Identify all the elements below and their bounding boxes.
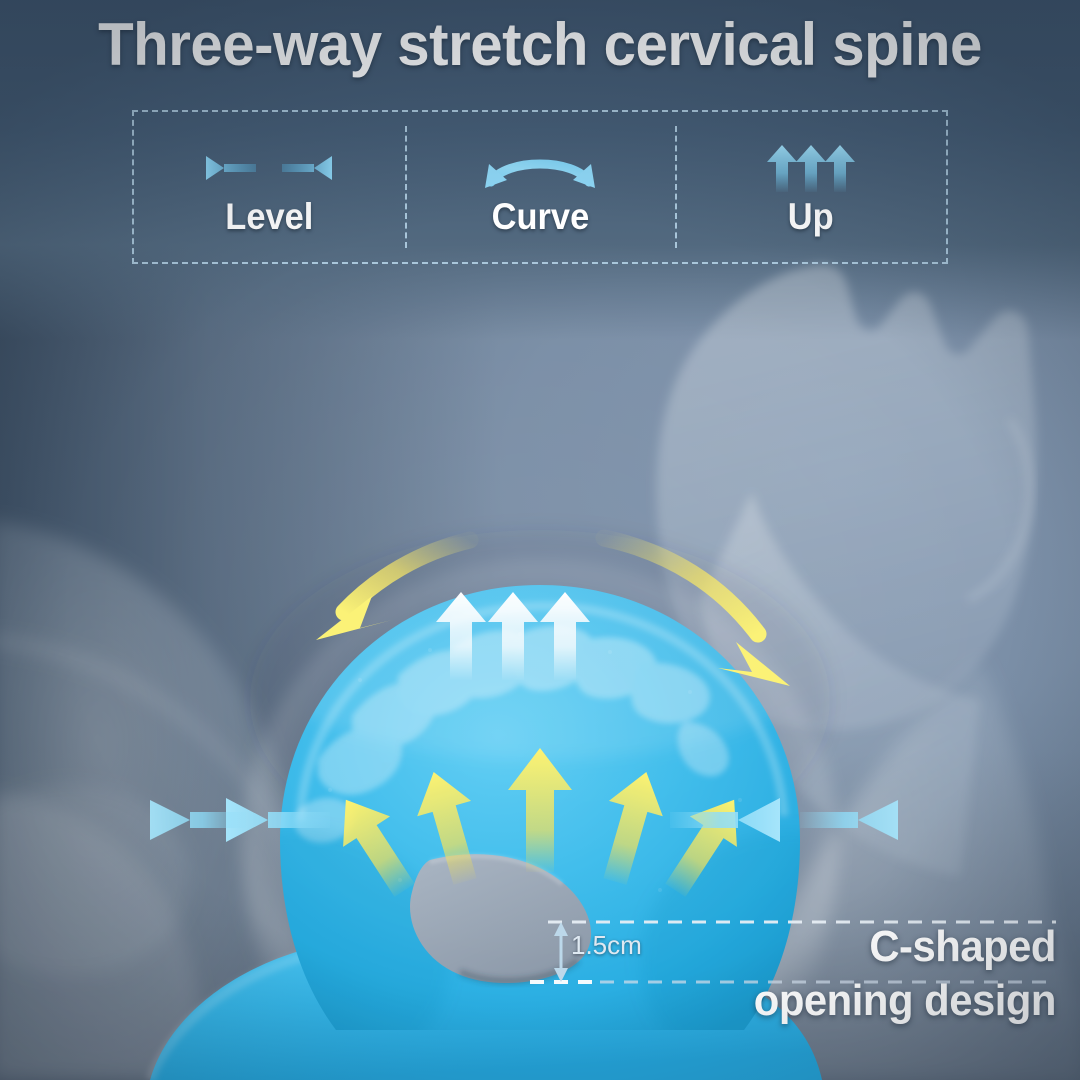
vignette-overlay [0,0,1080,1080]
product-infographic: Three-way stretch cervical spine [0,0,1080,1080]
